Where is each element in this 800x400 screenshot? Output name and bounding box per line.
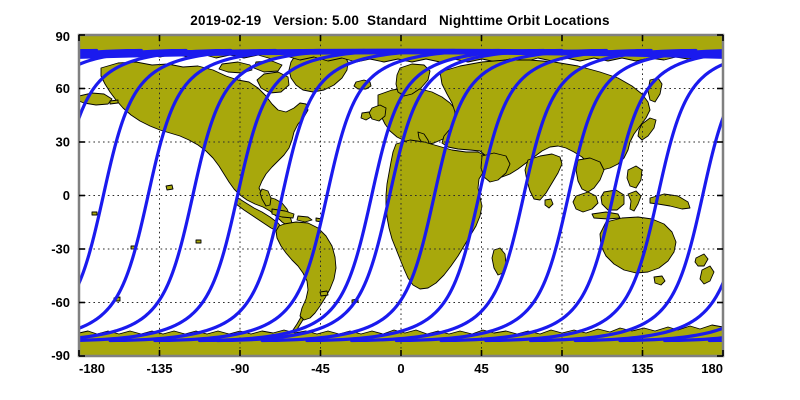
y-axis-tick-label: 0 xyxy=(63,188,70,203)
orbit-ground-track xyxy=(747,99,776,196)
y-axis-tick-label: -90 xyxy=(51,348,70,363)
x-axis-tick-label: -45 xyxy=(311,361,330,376)
orbit-map-canvas: -180-135-90-4504590135180-90-60-30030609… xyxy=(0,0,800,400)
landmass-pacific-island-1 xyxy=(196,240,201,243)
x-axis-tick-label: -135 xyxy=(146,361,172,376)
y-axis-tick-label: 30 xyxy=(56,135,70,150)
landmass-pacific-island-3 xyxy=(92,212,97,215)
x-axis-tick-label: -90 xyxy=(231,361,250,376)
y-axis-tick-label: -60 xyxy=(51,295,70,310)
x-axis-tick-label: 90 xyxy=(555,361,569,376)
landmass-hawaii xyxy=(166,185,173,190)
y-axis-tick-label: -30 xyxy=(51,242,70,257)
x-axis-tick-label: -180 xyxy=(79,361,105,376)
y-axis-tick-label: 60 xyxy=(56,81,70,96)
x-axis-tick-label: 135 xyxy=(632,361,654,376)
x-axis-tick-label: 180 xyxy=(701,361,723,376)
orbit-map-figure: 2019-02-19 Version: 5.00 Standard Nightt… xyxy=(0,0,800,400)
x-axis-tick-label: 0 xyxy=(397,361,404,376)
x-axis-tick-label: 45 xyxy=(474,361,488,376)
landmass-aleutian-1 xyxy=(110,100,118,104)
landmass-falklands xyxy=(320,291,328,296)
y-axis-tick-label: 90 xyxy=(56,29,70,44)
